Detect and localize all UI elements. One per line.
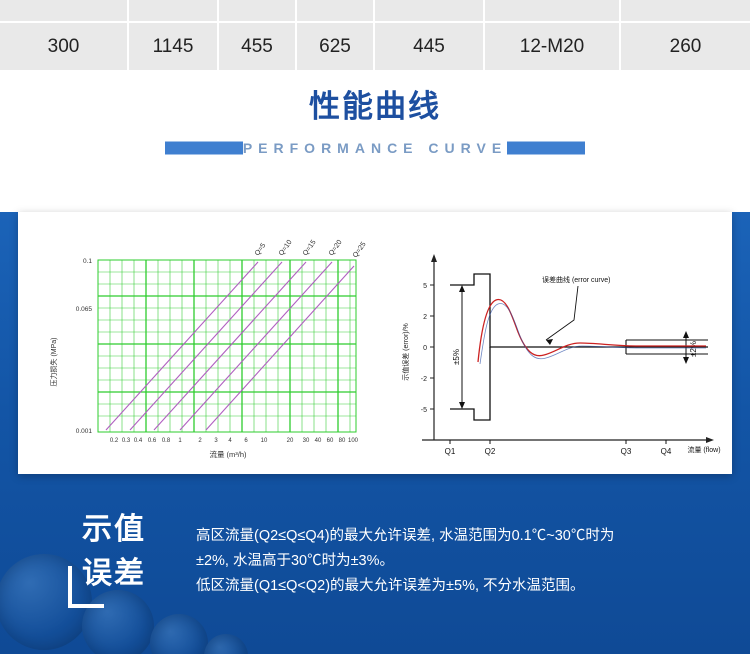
- series-label-3: Q=20: [328, 239, 344, 257]
- xtick-15: 80: [339, 438, 346, 444]
- xtick-12: 30: [303, 438, 310, 444]
- tolerance-label-5pct: ±5%: [452, 349, 461, 365]
- error-description-line-1: 高区流量(Q2≤Q≤Q4)的最大允许误差, 水温范围为0.1℃~30℃时为: [196, 524, 706, 549]
- error-xtick-q3: Q3: [621, 447, 632, 456]
- spec-cell-3: 625: [296, 22, 374, 70]
- series-label-0: Q=5: [254, 242, 267, 257]
- spec-header-cell: [374, 0, 484, 22]
- spec-header-cell: [128, 0, 218, 22]
- table-row: 300 1145 455 625 445 12-M20 260: [0, 22, 750, 70]
- subtitle-bar: PERFORMANCE CURVE: [165, 137, 585, 159]
- error-description-line-3: 低区流量(Q1≤Q<Q2)的最大允许误差为±5%, 不分水温范围。: [196, 574, 706, 599]
- error-ytick-1: 2: [423, 314, 427, 321]
- spec-header-cell: [620, 0, 750, 22]
- spec-cell-1: 1145: [128, 22, 218, 70]
- spec-cell-4: 445: [374, 22, 484, 70]
- error-ytick-0: 5: [423, 283, 427, 290]
- xtick-3: 0.6: [148, 438, 157, 444]
- spec-header-cell: [0, 0, 128, 22]
- xtick-11: 20: [287, 438, 294, 444]
- xtick-5: 1: [178, 438, 182, 444]
- xtick-16: 100: [348, 438, 359, 444]
- error-ytick-2: 0: [423, 345, 427, 352]
- error-xtick-q4: Q4: [661, 447, 672, 456]
- spec-header-cell: [484, 0, 620, 22]
- xtick-7: 3: [214, 438, 218, 444]
- page-title: 性能曲线: [0, 88, 750, 125]
- error-curve-chart: 5 2 0 -2 -5 示值误差 (error)/% ±5%: [401, 254, 721, 456]
- error-ytick-4: -5: [421, 407, 427, 414]
- ytick-0: 0.1: [83, 258, 92, 265]
- xtick-14: 60: [327, 438, 334, 444]
- performance-charts-svg: Q=5 Q=10 Q=15 Q=20 Q=25 0.1 0.065 0.001 …: [18, 212, 732, 474]
- spec-header-cell: [296, 0, 374, 22]
- tolerance-label-2pct: ±2%: [689, 341, 698, 357]
- xtick-6: 2: [198, 438, 202, 444]
- xtick-8: 4: [228, 438, 232, 444]
- xtick-13: 40: [315, 438, 322, 444]
- error-description: 高区流量(Q2≤Q≤Q4)的最大允许误差, 水温范围为0.1℃~30℃时为 ±2…: [196, 524, 706, 599]
- pressure-xlabel: 流量 (m³/h): [209, 449, 247, 459]
- error-ytick-3: -2: [421, 376, 427, 383]
- xtick-1: 0.3: [122, 438, 131, 444]
- error-xlabel: 流量 (flow): [687, 445, 720, 454]
- spec-table-header-row: [0, 0, 750, 22]
- spec-table: 300 1145 455 625 445 12-M20 260: [0, 0, 750, 70]
- ytick-2: 0.001: [76, 428, 93, 435]
- pressure-ylabel: 压力损失 (MPa): [49, 338, 58, 387]
- spec-cell-2: 455: [218, 22, 296, 70]
- xtick-10: 10: [261, 438, 268, 444]
- error-xtick-q1: Q1: [445, 447, 456, 456]
- xtick-4: 0.8: [162, 438, 171, 444]
- ytick-1: 0.065: [76, 306, 93, 313]
- badge-corner-decoration: [68, 566, 104, 608]
- error-description-line-2: ±2%, 水温高于30℃时为±3%。: [196, 549, 706, 574]
- xtick-2: 0.4: [134, 438, 143, 444]
- xtick-0: 0.2: [110, 438, 119, 444]
- series-label-1: Q=10: [278, 239, 294, 257]
- xtick-9: 6: [244, 438, 248, 444]
- badge-line-1: 示值: [82, 508, 182, 552]
- spec-cell-5: 12-M20: [484, 22, 620, 70]
- spec-header-cell: [218, 0, 296, 22]
- spec-cell-0: 300: [0, 22, 128, 70]
- spec-cell-6: 260: [620, 22, 750, 70]
- page-subtitle: PERFORMANCE CURVE: [243, 140, 507, 156]
- pressure-loss-chart: Q=5 Q=10 Q=15 Q=20 Q=25 0.1 0.065 0.001 …: [49, 239, 368, 459]
- error-curve-annotation: 误差曲线 (error curve): [542, 275, 610, 284]
- error-xtick-q2: Q2: [485, 447, 496, 456]
- error-ylabel: 示值误差 (error)/%: [401, 323, 410, 381]
- series-label-4: Q=25: [352, 241, 368, 259]
- performance-chart-card: Q=5 Q=10 Q=15 Q=20 Q=25 0.1 0.065 0.001 …: [18, 212, 732, 474]
- series-label-2: Q=15: [302, 239, 318, 257]
- status-badge: 示值 误差: [82, 508, 182, 600]
- section-title-zone: 性能曲线 PERFORMANCE CURVE: [0, 70, 750, 159]
